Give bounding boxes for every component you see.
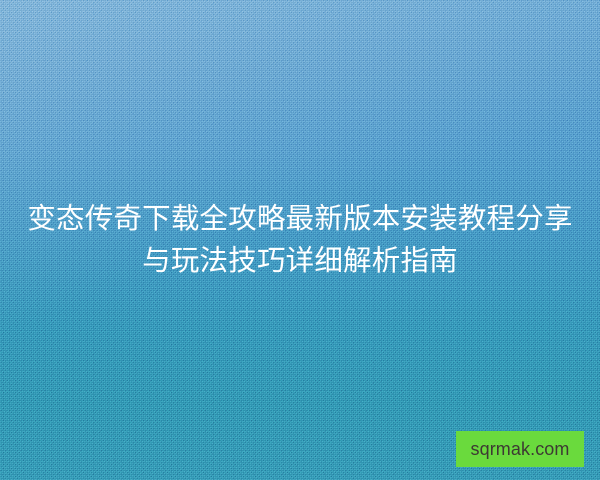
page-title: 变态传奇下载全攻略最新版本安装教程分享与玩法技巧详细解析指南 bbox=[18, 198, 582, 282]
watermark-label: sqrmak.com bbox=[470, 440, 569, 458]
cover-image: 变态传奇下载全攻略最新版本安装教程分享与玩法技巧详细解析指南 sqrmak.co… bbox=[0, 0, 600, 480]
watermark-badge: sqrmak.com bbox=[456, 431, 584, 467]
title-block: 变态传奇下载全攻略最新版本安装教程分享与玩法技巧详细解析指南 bbox=[0, 198, 600, 282]
